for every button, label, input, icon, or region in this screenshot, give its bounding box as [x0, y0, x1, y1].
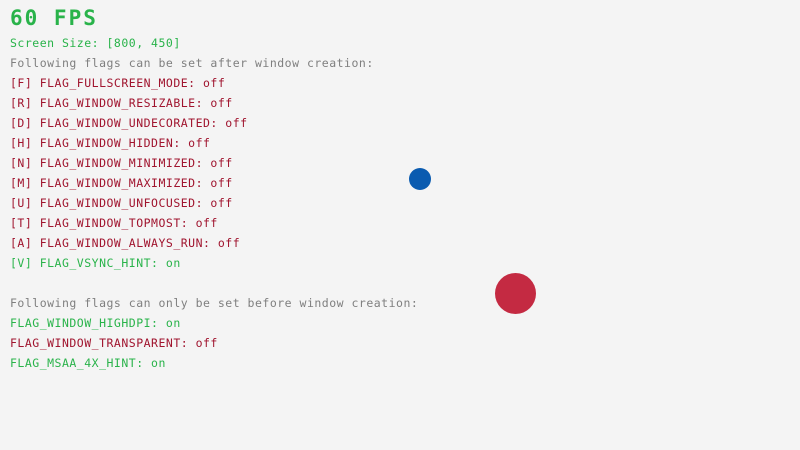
creation-flags-heading: Following flags can only be set before w… — [10, 298, 418, 310]
red-ball — [495, 273, 536, 314]
runtime-flags-heading: Following flags can be set after window … — [10, 58, 374, 70]
flag-row[interactable]: [H] FLAG_WINDOW_HIDDEN: off — [10, 138, 210, 150]
flag-row[interactable]: FLAG_MSAA_4X_HINT: on — [10, 358, 166, 370]
flag-row[interactable]: [R] FLAG_WINDOW_RESIZABLE: off — [10, 98, 233, 110]
flag-row[interactable]: [F] FLAG_FULLSCREEN_MODE: off — [10, 78, 225, 90]
flag-row[interactable]: [A] FLAG_WINDOW_ALWAYS_RUN: off — [10, 238, 240, 250]
flag-row[interactable]: FLAG_WINDOW_TRANSPARENT: off — [10, 338, 218, 350]
flag-row[interactable]: [T] FLAG_WINDOW_TOPMOST: off — [10, 218, 218, 230]
flag-row[interactable]: [V] FLAG_VSYNC_HINT: on — [10, 258, 181, 270]
flag-row[interactable]: [M] FLAG_WINDOW_MAXIMIZED: off — [10, 178, 233, 190]
fps-counter: 60 FPS — [10, 8, 98, 29]
flag-row[interactable]: [U] FLAG_WINDOW_UNFOCUSED: off — [10, 198, 233, 210]
flag-row[interactable]: FLAG_WINDOW_HIGHDPI: on — [10, 318, 181, 330]
flag-row[interactable]: [D] FLAG_WINDOW_UNDECORATED: off — [10, 118, 248, 130]
flag-row[interactable]: [N] FLAG_WINDOW_MINIMIZED: off — [10, 158, 233, 170]
blue-ball — [409, 168, 431, 190]
screen-size-label: Screen Size: [800, 450] — [10, 38, 181, 50]
raylib-window-canvas[interactable]: 60 FPS Screen Size: [800, 450] Following… — [0, 0, 800, 450]
